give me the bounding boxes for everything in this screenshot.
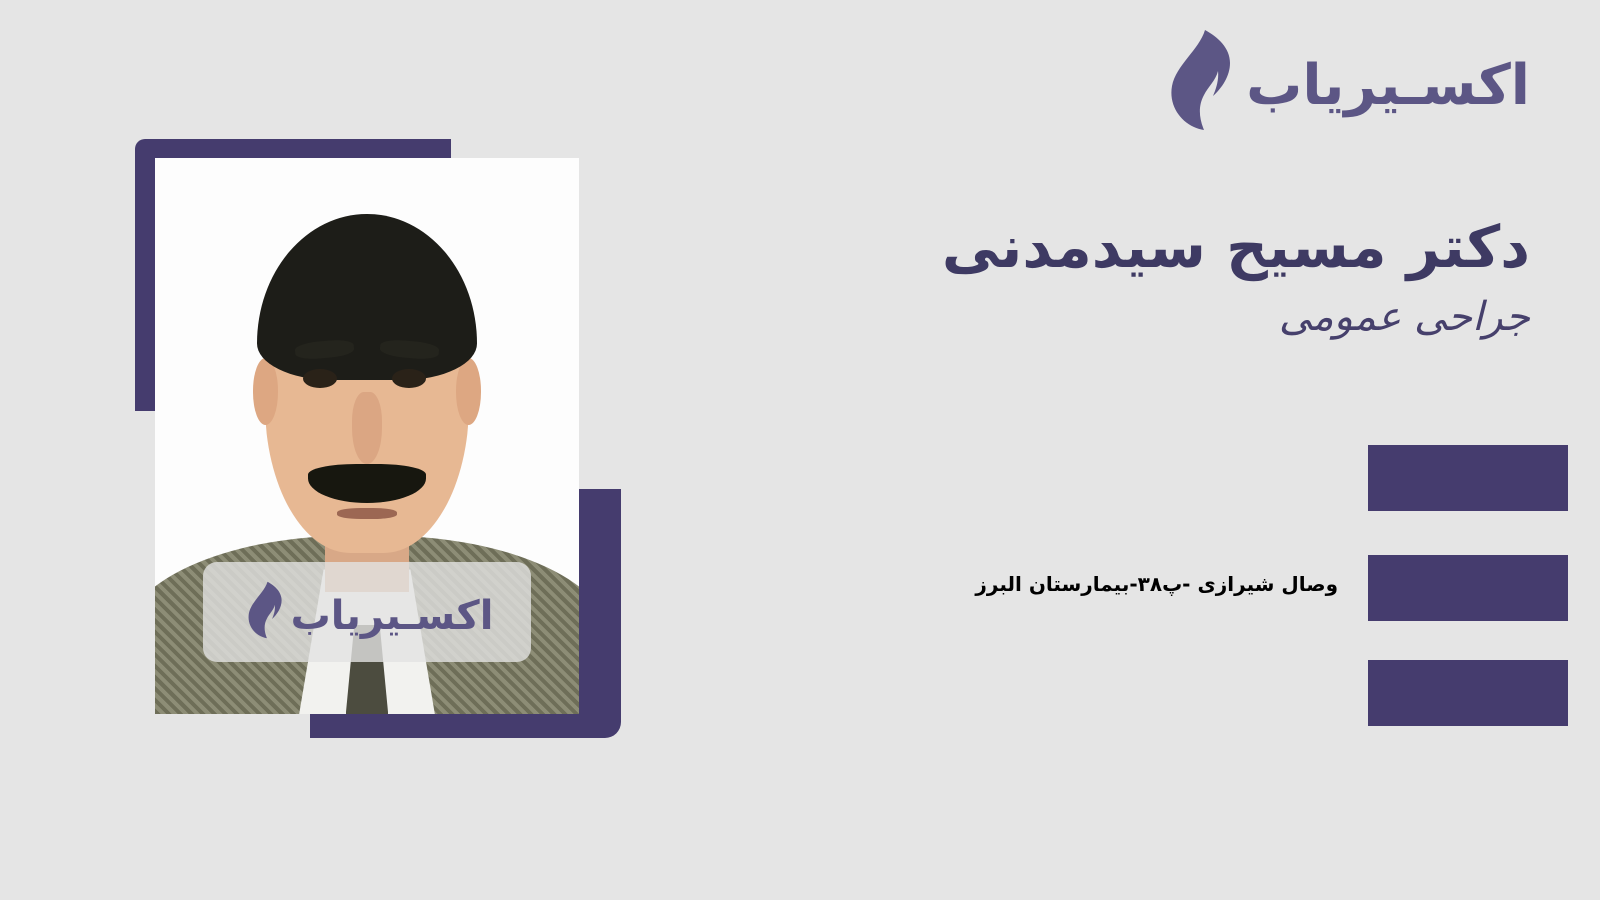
doctor-address: وصال شیرازی -پ۳۸-بیمارستان البرز <box>975 572 1338 596</box>
portrait-nose <box>352 392 382 464</box>
doctor-profile-card: اکسـیریاب <box>0 0 1600 900</box>
portrait-ear-right <box>456 358 481 425</box>
doctor-photo: اکسـیریاب <box>155 158 579 714</box>
watermark-badge: اکسـیریاب <box>203 562 531 662</box>
decor-bar-2 <box>1368 555 1568 621</box>
portrait-ear-left <box>253 358 278 425</box>
portrait-hair <box>257 214 477 381</box>
photo-block: اکسـیریاب <box>135 139 621 738</box>
doctor-name: دکتر مسیح سیدمدنی <box>770 212 1530 283</box>
decor-bar-3 <box>1368 660 1568 726</box>
brand-logo[interactable]: اکسـیریاب <box>1158 28 1530 132</box>
doctor-specialty: جراحی عمومی <box>770 291 1530 343</box>
watermark-text: اکسـیریاب <box>291 596 494 636</box>
brand-name: اکسـیریاب <box>1246 58 1530 114</box>
doctor-info: دکتر مسیح سیدمدنی جراحی عمومی <box>770 212 1530 343</box>
portrait-mouth <box>337 508 396 519</box>
decor-bar-1 <box>1368 445 1568 511</box>
watermark-flame-drop-icon <box>241 580 285 644</box>
flame-drop-icon <box>1158 28 1236 132</box>
